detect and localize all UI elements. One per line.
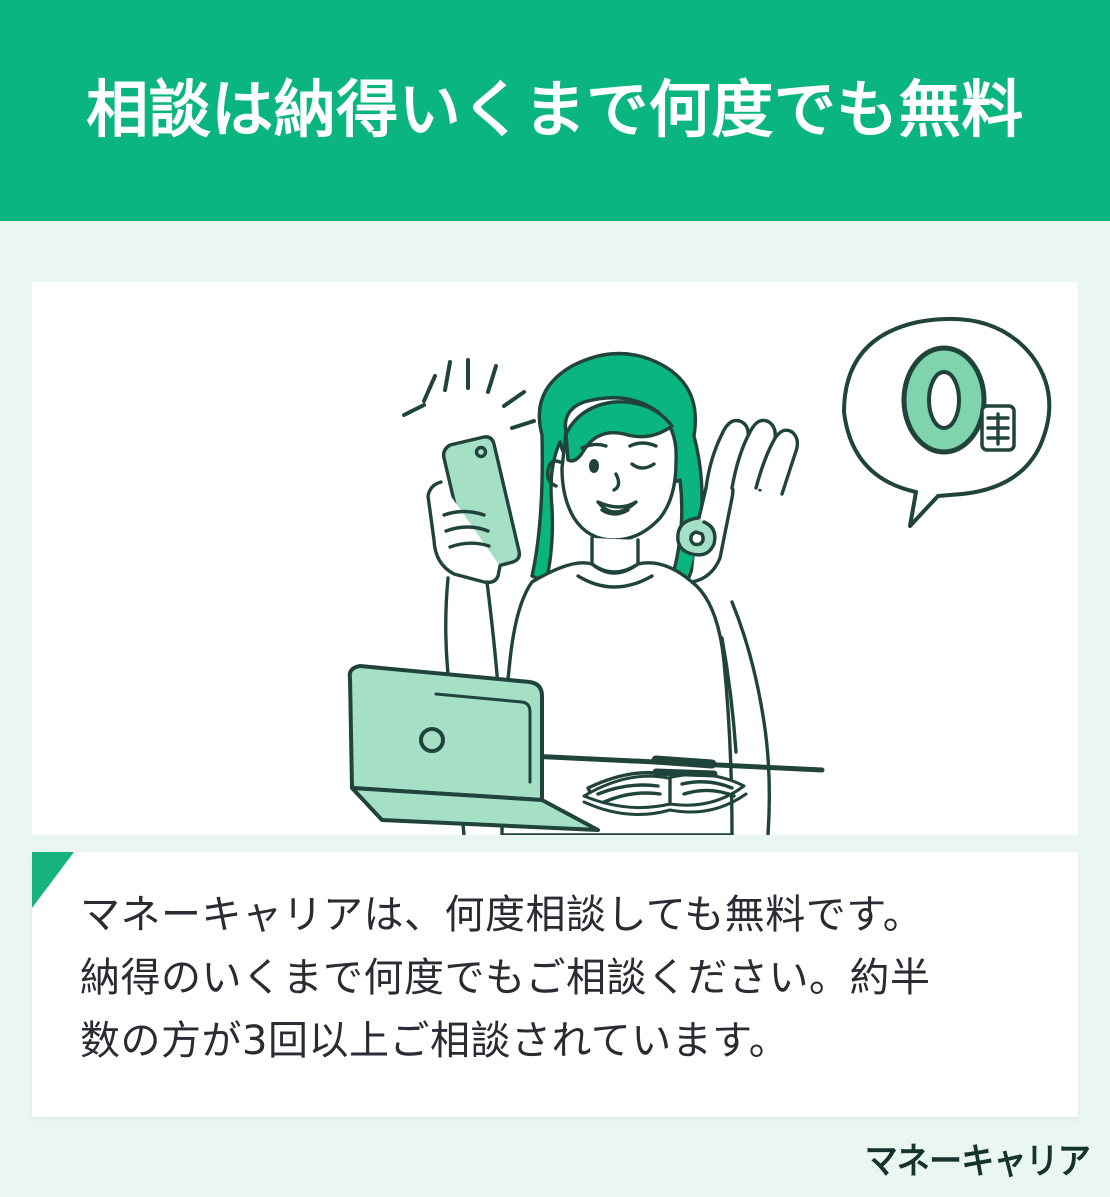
description-card: マネーキャリアは、何度相談しても無料です。 納得のいくまで何度でもご相談ください… (32, 852, 1078, 1117)
page-body: マネーキャリアは、何度相談しても無料です。 納得のいくまで何度でもご相談ください… (0, 221, 1110, 1197)
woman-with-smartphone-illustration (32, 282, 1078, 835)
description-line-1: マネーキャリアは、何度相談しても無料です。 (80, 884, 1042, 947)
page-title: 相談は納得いくまで何度でも無料 (86, 76, 1024, 144)
description-line-3: 数の方が3回以上ご相談されています。 (80, 1010, 1042, 1073)
description-text: マネーキャリアは、何度相談しても無料です。 納得のいくまで何度でもご相談ください… (80, 884, 1042, 1073)
header-banner: 相談は納得いくまで何度でも無料 (0, 0, 1110, 221)
brand-logo: マネーキャリア (865, 1132, 1090, 1184)
illustration-card (32, 282, 1078, 835)
description-line-2: 納得のいくまで何度でもご相談ください。約半 (80, 947, 1042, 1010)
corner-accent-triangle (32, 852, 74, 908)
